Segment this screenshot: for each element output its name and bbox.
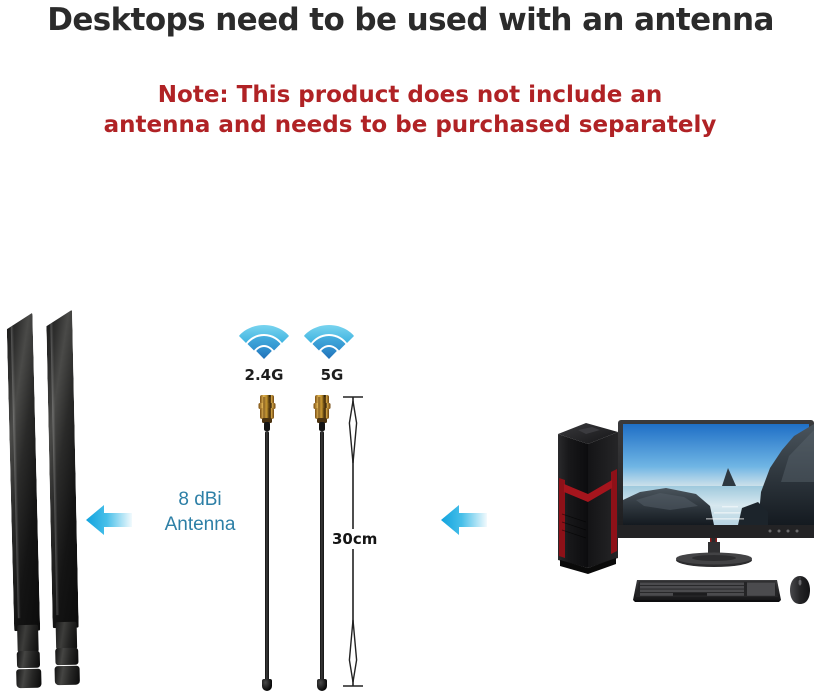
ipex-connector-icon bbox=[256, 393, 278, 433]
cable-wire bbox=[265, 431, 269, 683]
antenna-body bbox=[6, 313, 40, 632]
wifi-label-2-4g: 2.4G bbox=[229, 366, 299, 384]
desktop-pc-tower bbox=[548, 418, 622, 578]
antenna-neck bbox=[17, 625, 39, 653]
antenna-connector-ring-lower bbox=[55, 666, 80, 686]
antenna-connector-ring-lower bbox=[16, 669, 41, 689]
computer-keyboard bbox=[633, 578, 781, 604]
antenna-neck bbox=[56, 622, 78, 649]
page-title: Desktops need to be used with an antenna bbox=[0, 2, 821, 38]
antenna-gain-caption: 8 dBi Antenna bbox=[135, 487, 265, 537]
antenna-gain-line-2: Antenna bbox=[135, 512, 265, 537]
antenna-gain-line-1: 8 dBi bbox=[135, 487, 265, 512]
cable-length-label: 30cm bbox=[330, 529, 379, 549]
antenna-connector-ring-upper bbox=[55, 648, 78, 665]
wifi-icon-2-4g bbox=[238, 318, 290, 360]
computer-monitor bbox=[618, 420, 814, 568]
arrow-left-icon-2 bbox=[440, 503, 488, 537]
ipex-connector-icon bbox=[311, 393, 333, 433]
antenna-body bbox=[46, 310, 79, 628]
product-infographic: Desktops need to be used with an antenna… bbox=[0, 0, 821, 700]
antenna-product-left bbox=[3, 313, 46, 689]
wifi-label-5g: 5G bbox=[297, 366, 367, 384]
warning-note-line-2: antenna and needs to be purchased separa… bbox=[60, 110, 760, 140]
wifi-icon-5g bbox=[303, 318, 355, 360]
antenna-connector-ring-upper bbox=[17, 651, 40, 669]
arrow-left-icon bbox=[85, 503, 133, 537]
cable-end-tip bbox=[262, 679, 272, 691]
warning-note-line-1: Note: This product does not include an bbox=[60, 80, 760, 110]
warning-note: Note: This product does not include an a… bbox=[60, 80, 760, 140]
cable-end-tip bbox=[317, 679, 327, 691]
computer-mouse bbox=[789, 575, 811, 605]
cable-wire bbox=[320, 431, 324, 683]
antenna-product-right bbox=[43, 310, 85, 686]
